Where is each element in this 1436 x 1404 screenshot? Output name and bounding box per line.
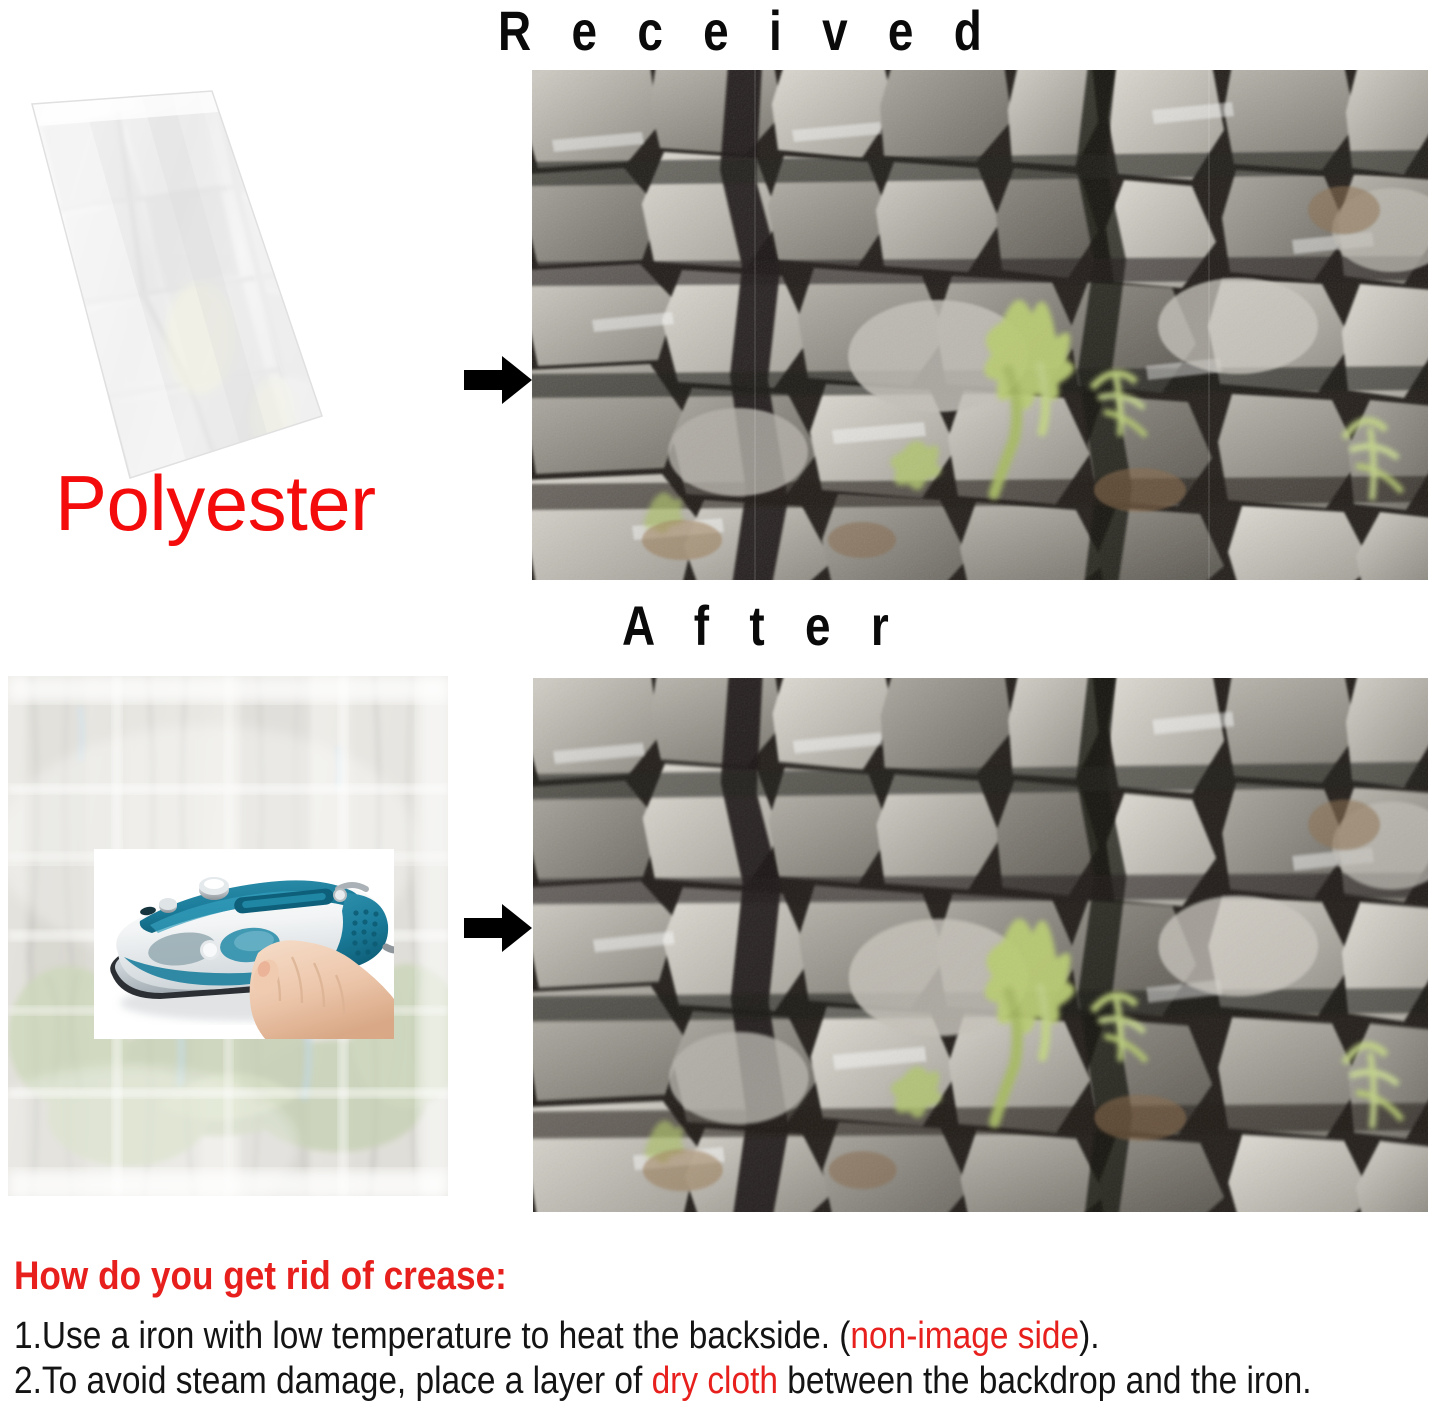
instruction-line-1: 1.Use a iron with low temperature to hea… xyxy=(14,1314,1264,1359)
polyester-material-label: Polyester xyxy=(55,462,376,544)
instruction-line-1-highlight: non-image side xyxy=(850,1315,1079,1357)
after-section-title: A f t e r xyxy=(622,596,902,656)
instruction-line-1-part1: 1.Use a iron with low temperature to hea… xyxy=(14,1315,850,1357)
instruction-line-2-part1: 2.To avoid steam damage, place a layer o… xyxy=(14,1360,652,1402)
care-instructions-block: How do you get rid of crease: 1.Use a ir… xyxy=(14,1252,1434,1404)
instruction-line-2: 2.To avoid steam damage, place a layer o… xyxy=(14,1359,1264,1404)
instruction-line-1-part2: ). xyxy=(1079,1315,1099,1357)
right-arrow-icon xyxy=(462,900,534,956)
instruction-line-2-highlight: dry cloth xyxy=(652,1360,778,1402)
instruction-line-2-part2: between the backdrop and the iron. xyxy=(778,1360,1312,1402)
instructions-heading: How do you get rid of crease: xyxy=(14,1252,1264,1300)
rock-wall-backdrop-received xyxy=(532,70,1428,580)
right-arrow-icon xyxy=(462,352,534,408)
received-section-title: R e c e i v e d xyxy=(498,1,996,61)
steam-iron-with-hand xyxy=(94,849,394,1039)
folded-polyester-fabric xyxy=(22,86,362,486)
rock-wall-backdrop-after xyxy=(533,678,1428,1212)
